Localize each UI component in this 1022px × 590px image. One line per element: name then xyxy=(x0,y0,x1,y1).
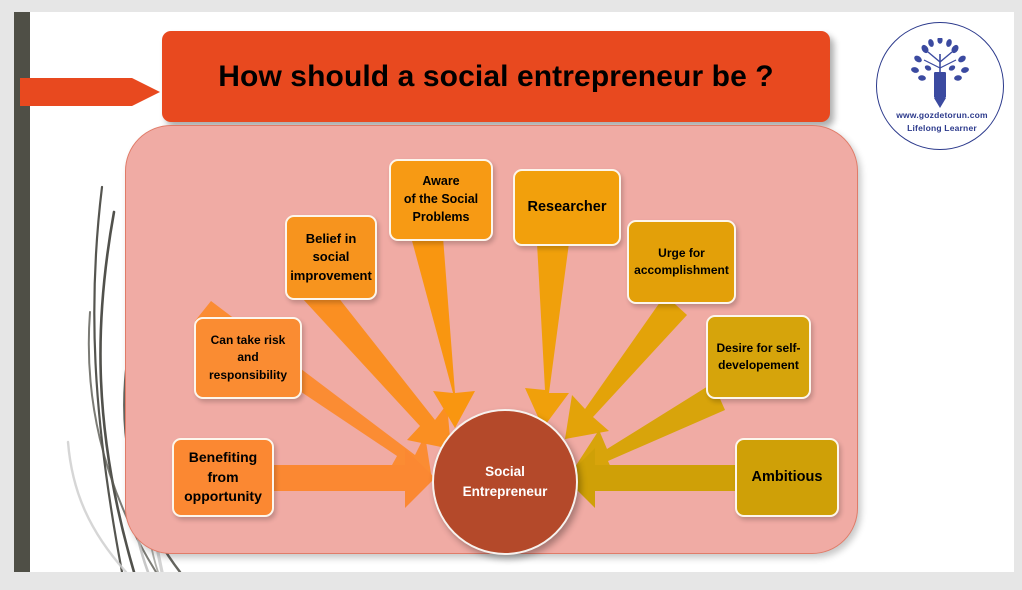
logo-tagline-text: Lifelong Learner xyxy=(876,123,1008,133)
hub-line-1: Social xyxy=(485,462,525,482)
node-label-line: developement xyxy=(718,357,799,374)
node-label-line: Ambitious xyxy=(752,467,823,488)
node-label-line: improvement xyxy=(290,267,372,285)
node-label-line: of the Social xyxy=(404,191,478,209)
pencil-tree-icon xyxy=(906,38,974,110)
node-ambitious[interactable]: Ambitious xyxy=(735,438,839,517)
node-researcher[interactable]: Researcher xyxy=(513,169,621,246)
node-label-line: Problems xyxy=(413,209,470,227)
title-banner: How should a social entrepreneur be ? xyxy=(162,31,830,122)
node-label-line: from xyxy=(207,468,238,488)
center-hub: Social Entrepreneur xyxy=(432,409,578,555)
node-benefiting-from-opportunity[interactable]: Benefitingfromopportunity xyxy=(172,438,274,517)
brand-logo: www.gozdetorun.com Lifelong Learner xyxy=(876,22,1008,154)
node-label-line: opportunity xyxy=(184,487,262,507)
node-label-line: and xyxy=(237,349,258,366)
node-can-take-risk-and-responsibility[interactable]: Can take riskandresponsibility xyxy=(194,317,302,399)
node-desire-for-self-developement[interactable]: Desire for self-developement xyxy=(706,315,811,399)
page-title: How should a social entrepreneur be ? xyxy=(218,60,773,94)
node-label-line: Benefiting xyxy=(189,448,257,468)
node-label-line: Desire for self- xyxy=(716,340,800,357)
lead-arrow-icon xyxy=(20,72,160,112)
node-label-line: Aware xyxy=(422,173,459,191)
hub-line-2: Entrepreneur xyxy=(463,482,548,502)
screenshot-canvas: How should a social entrepreneur be ? xyxy=(0,0,1022,590)
node-label-line: Researcher xyxy=(528,197,607,218)
node-aware-of-the-social-problems[interactable]: Awareof the SocialProblems xyxy=(389,159,493,241)
node-label-line: responsibility xyxy=(209,367,287,384)
slide: How should a social entrepreneur be ? xyxy=(14,12,1014,572)
logo-url-text: www.gozdetorun.com xyxy=(876,110,1008,120)
node-belief-in-social-improvement[interactable]: Belief insocialimprovement xyxy=(285,215,377,300)
node-label-line: Belief in xyxy=(306,230,357,248)
node-urge-for-accomplishment[interactable]: Urge foraccomplishment xyxy=(627,220,736,304)
node-label-line: social xyxy=(313,248,350,266)
node-label-line: Urge for xyxy=(658,245,705,262)
node-label-line: accomplishment xyxy=(634,262,729,279)
node-label-line: Can take risk xyxy=(211,332,286,349)
